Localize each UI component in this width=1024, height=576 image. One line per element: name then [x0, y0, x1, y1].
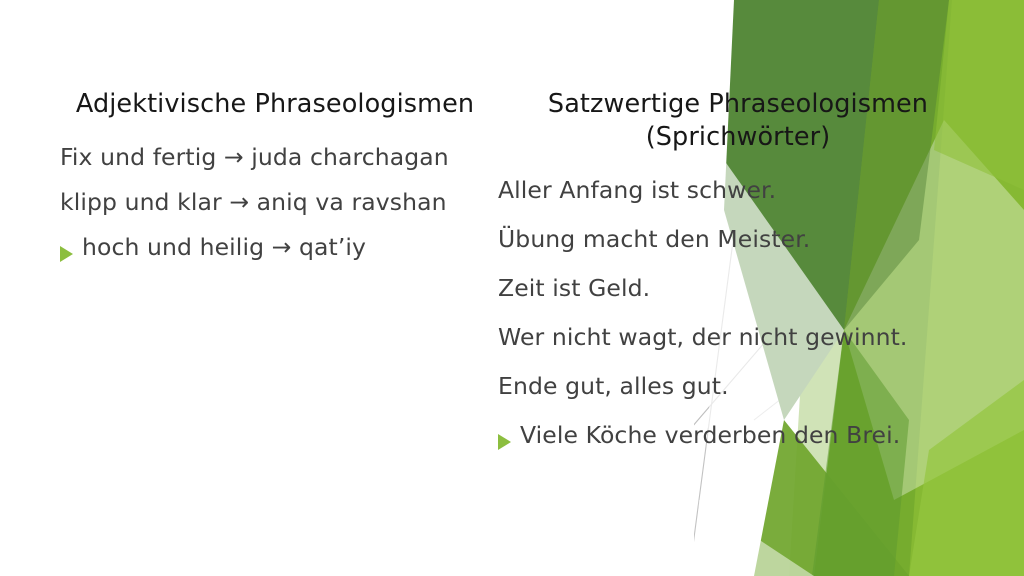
right-column-list: Aller Anfang ist schwer. Übung macht den…: [498, 176, 978, 450]
triangle-bullet-icon: [60, 235, 82, 265]
list-item: Aller Anfang ist schwer.: [498, 176, 978, 206]
left-column-list: Fix und fertig → juda charchagan klipp u…: [60, 143, 490, 263]
list-item: Zeit ist Geld.: [498, 274, 978, 304]
list-item-text: Fix und fertig → juda charchagan: [60, 143, 490, 173]
left-text-column: Adjektivische Phraseologismen Fix und fe…: [60, 88, 490, 278]
list-item-text: Übung macht den Meister.: [498, 225, 978, 255]
list-item-text: Viele Köche verderben den Brei.: [520, 421, 978, 451]
list-item-text: Wer nicht wagt, der nicht gewinnt.: [498, 323, 978, 353]
list-item: Übung macht den Meister.: [498, 225, 978, 255]
list-item-text: Zeit ist Geld.: [498, 274, 978, 304]
slide-content: Adjektivische Phraseologismen Fix und fe…: [0, 0, 1024, 576]
list-item-text: klipp und klar → aniq va ravshan: [60, 188, 490, 218]
triangle-bullet-icon: [498, 423, 520, 453]
list-item: klipp und klar → aniq va ravshan: [60, 188, 490, 218]
right-column-heading: Satzwertige Phraseologismen (Sprichwörte…: [498, 88, 978, 154]
list-item: Fix und fertig → juda charchagan: [60, 143, 490, 173]
list-item: Ende gut, alles gut.: [498, 372, 978, 402]
slide-canvas: Adjektivische Phraseologismen Fix und fe…: [0, 0, 1024, 576]
list-item: hoch und heilig → qat’iy: [60, 233, 490, 263]
list-item: Viele Köche verderben den Brei.: [498, 421, 978, 451]
list-item-text: Ende gut, alles gut.: [498, 372, 978, 402]
left-column-heading: Adjektivische Phraseologismen: [60, 88, 490, 121]
list-item: Wer nicht wagt, der nicht gewinnt.: [498, 323, 978, 353]
right-text-column: Satzwertige Phraseologismen (Sprichwörte…: [498, 88, 978, 469]
list-item-text: hoch und heilig → qat’iy: [82, 233, 490, 263]
list-item-text: Aller Anfang ist schwer.: [498, 176, 978, 206]
